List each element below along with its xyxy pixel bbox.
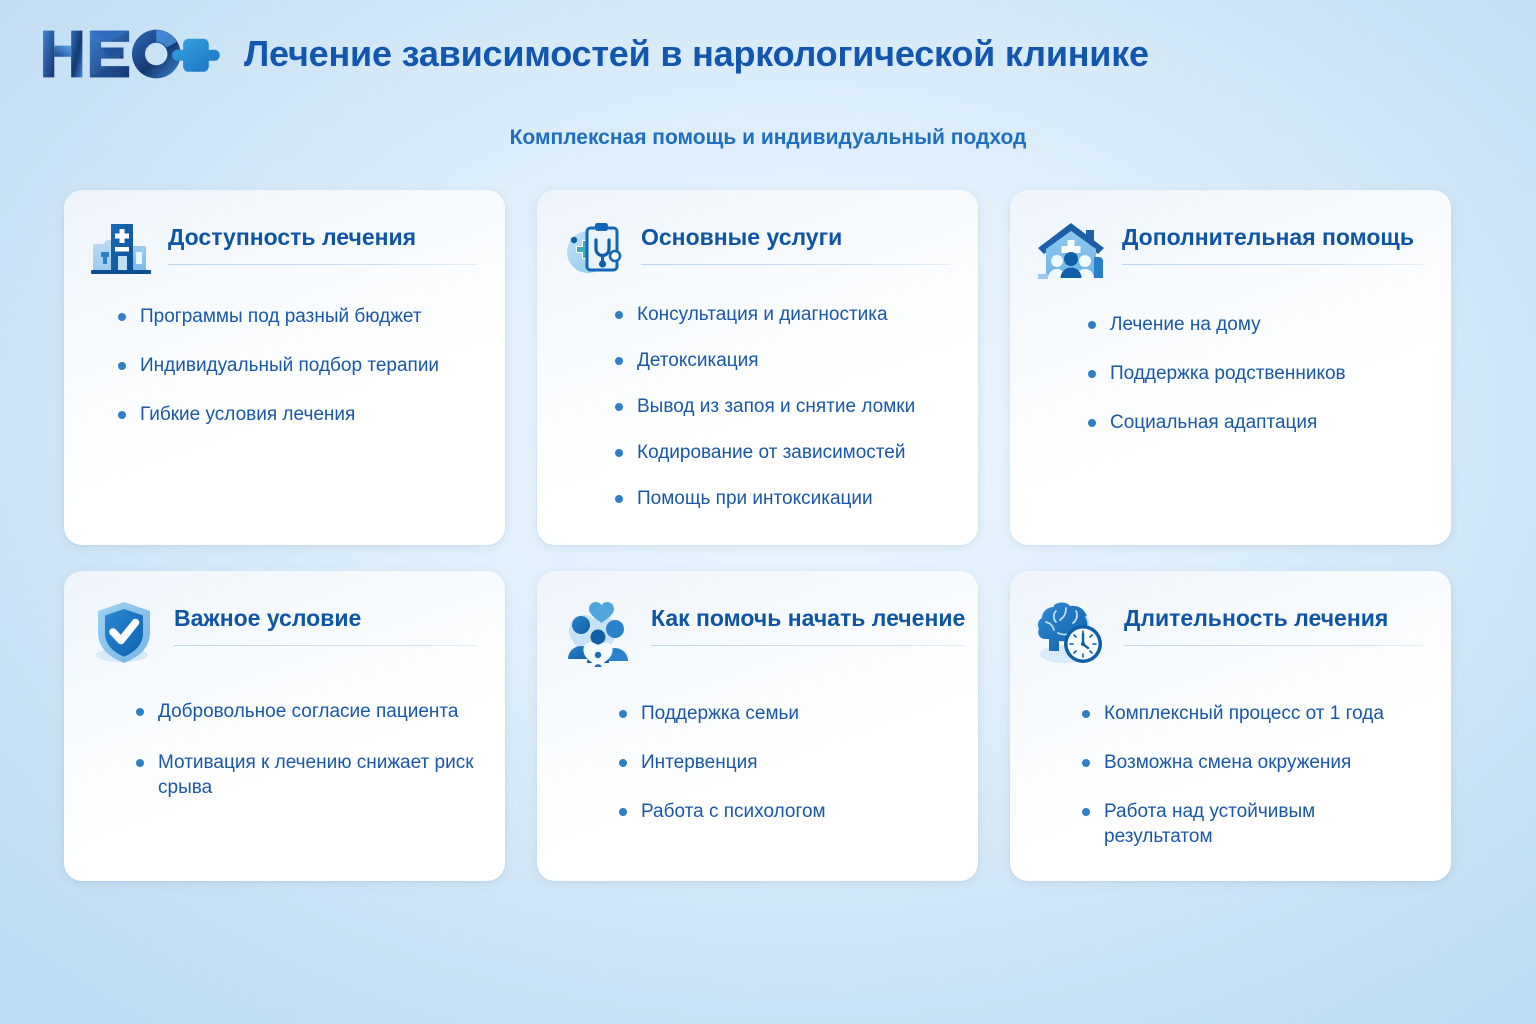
list-item: Интервенция	[619, 750, 950, 775]
cards-grid: Доступность лечения Программы под разный…	[64, 190, 1472, 881]
card-head-text: Длительность лечения	[1124, 597, 1423, 646]
list-item: Детоксикация	[615, 348, 950, 373]
card-header: Важное условие	[88, 597, 477, 669]
logo-plus-sign	[172, 39, 220, 72]
hospital-building-icon	[88, 216, 154, 282]
card-head-text: Доступность лечения	[168, 216, 477, 265]
card-header: Доступность лечения	[88, 216, 477, 282]
card-dopolnitelnaya-pomoshch[interactable]: Дополнительная помощь Лечение на дому По…	[1010, 190, 1451, 545]
clipboard-stethoscope-icon	[561, 216, 627, 282]
list-item: Помощь при интоксикации	[615, 486, 950, 511]
card-dlitelnost-lecheniya[interactable]: Длительность лечения Комплексный процесс…	[1010, 571, 1451, 881]
card-bullet-list: Программы под разный бюджет Индивидуальн…	[88, 304, 477, 427]
card-kak-pomoch-nachat-lechenie[interactable]: Как помочь начать лечение Поддержка семь…	[537, 571, 978, 881]
list-item: Поддержка родственников	[1088, 361, 1423, 386]
card-head-text: Как помочь начать лечение	[651, 597, 965, 646]
list-item: Комплексный процесс от 1 года	[1082, 701, 1423, 726]
card-bullet-list: Добровольное согласие пациента Мотивация…	[88, 699, 477, 800]
card-divider	[174, 645, 477, 646]
card-title: Доступность лечения	[168, 224, 477, 250]
card-head-text: Дополнительная помощь	[1122, 216, 1423, 265]
card-header: Основные услуги	[561, 216, 950, 282]
list-item: Возможна смена окружения	[1082, 750, 1423, 775]
list-item: Работа с психологом	[619, 799, 950, 824]
list-item: Индивидуальный подбор терапии	[118, 353, 477, 378]
card-divider	[651, 645, 965, 646]
card-vazhnoe-uslovie[interactable]: Важное условие Добровольное согласие пац…	[64, 571, 505, 881]
card-head-text: Основные услуги	[641, 216, 950, 265]
card-divider	[641, 264, 950, 265]
card-divider	[1122, 264, 1423, 265]
card-title: Основные услуги	[641, 224, 950, 250]
card-bullet-list: Консультация и диагностика Детоксикация …	[561, 302, 950, 511]
list-item: Программы под разный бюджет	[118, 304, 477, 329]
page-header: Лечение зависимостей в наркологической к…	[0, 0, 1536, 108]
card-header: Как помочь начать лечение	[561, 597, 950, 673]
list-item: Гибкие условия лечения	[118, 402, 477, 427]
page-subtitle: Комплексная помощь и индивидуальный подх…	[0, 126, 1536, 150]
card-head-text: Важное условие	[174, 597, 477, 646]
logo-letter-e	[90, 31, 129, 78]
list-item: Мотивация к лечению снижает риск срыва	[136, 750, 477, 800]
logo-letter-h	[43, 31, 82, 78]
card-dostupnost-lecheniya[interactable]: Доступность лечения Программы под разный…	[64, 190, 505, 545]
card-title: Важное условие	[174, 605, 477, 631]
card-osnovnye-uslugi[interactable]: Основные услуги Консультация и диагности…	[537, 190, 978, 545]
list-item: Работа над устойчивым результатом	[1082, 799, 1423, 849]
card-header: Дополнительная помощь	[1034, 216, 1423, 290]
list-item: Поддержка семьи	[619, 701, 950, 726]
card-bullet-list: Поддержка семьи Интервенция Работа с пси…	[561, 701, 950, 824]
list-item: Добровольное согласие пациента	[136, 699, 477, 724]
card-divider	[1124, 645, 1423, 646]
list-item: Лечение на дому	[1088, 312, 1423, 337]
card-bullet-list: Лечение на дому Поддержка родственников …	[1034, 312, 1423, 435]
card-divider	[168, 264, 477, 265]
neo-plus-logo	[36, 25, 226, 83]
page-title: Лечение зависимостей в наркологической к…	[244, 33, 1149, 75]
home-care-icon	[1034, 216, 1108, 290]
brain-clock-icon	[1034, 597, 1110, 673]
list-item: Консультация и диагностика	[615, 302, 950, 327]
card-title: Дополнительная помощь	[1122, 224, 1423, 250]
list-item: Кодирование от зависимостей	[615, 440, 950, 465]
list-item: Социальная адаптация	[1088, 410, 1423, 435]
card-bullet-list: Комплексный процесс от 1 года Возможна с…	[1034, 701, 1423, 849]
list-item: Вывод из запоя и снятие ломки	[615, 394, 950, 419]
family-heart-icon	[561, 597, 637, 673]
card-title: Длительность лечения	[1124, 605, 1423, 631]
card-header: Длительность лечения	[1034, 597, 1423, 673]
shield-check-icon	[88, 597, 160, 669]
card-title: Как помочь начать лечение	[651, 605, 965, 631]
